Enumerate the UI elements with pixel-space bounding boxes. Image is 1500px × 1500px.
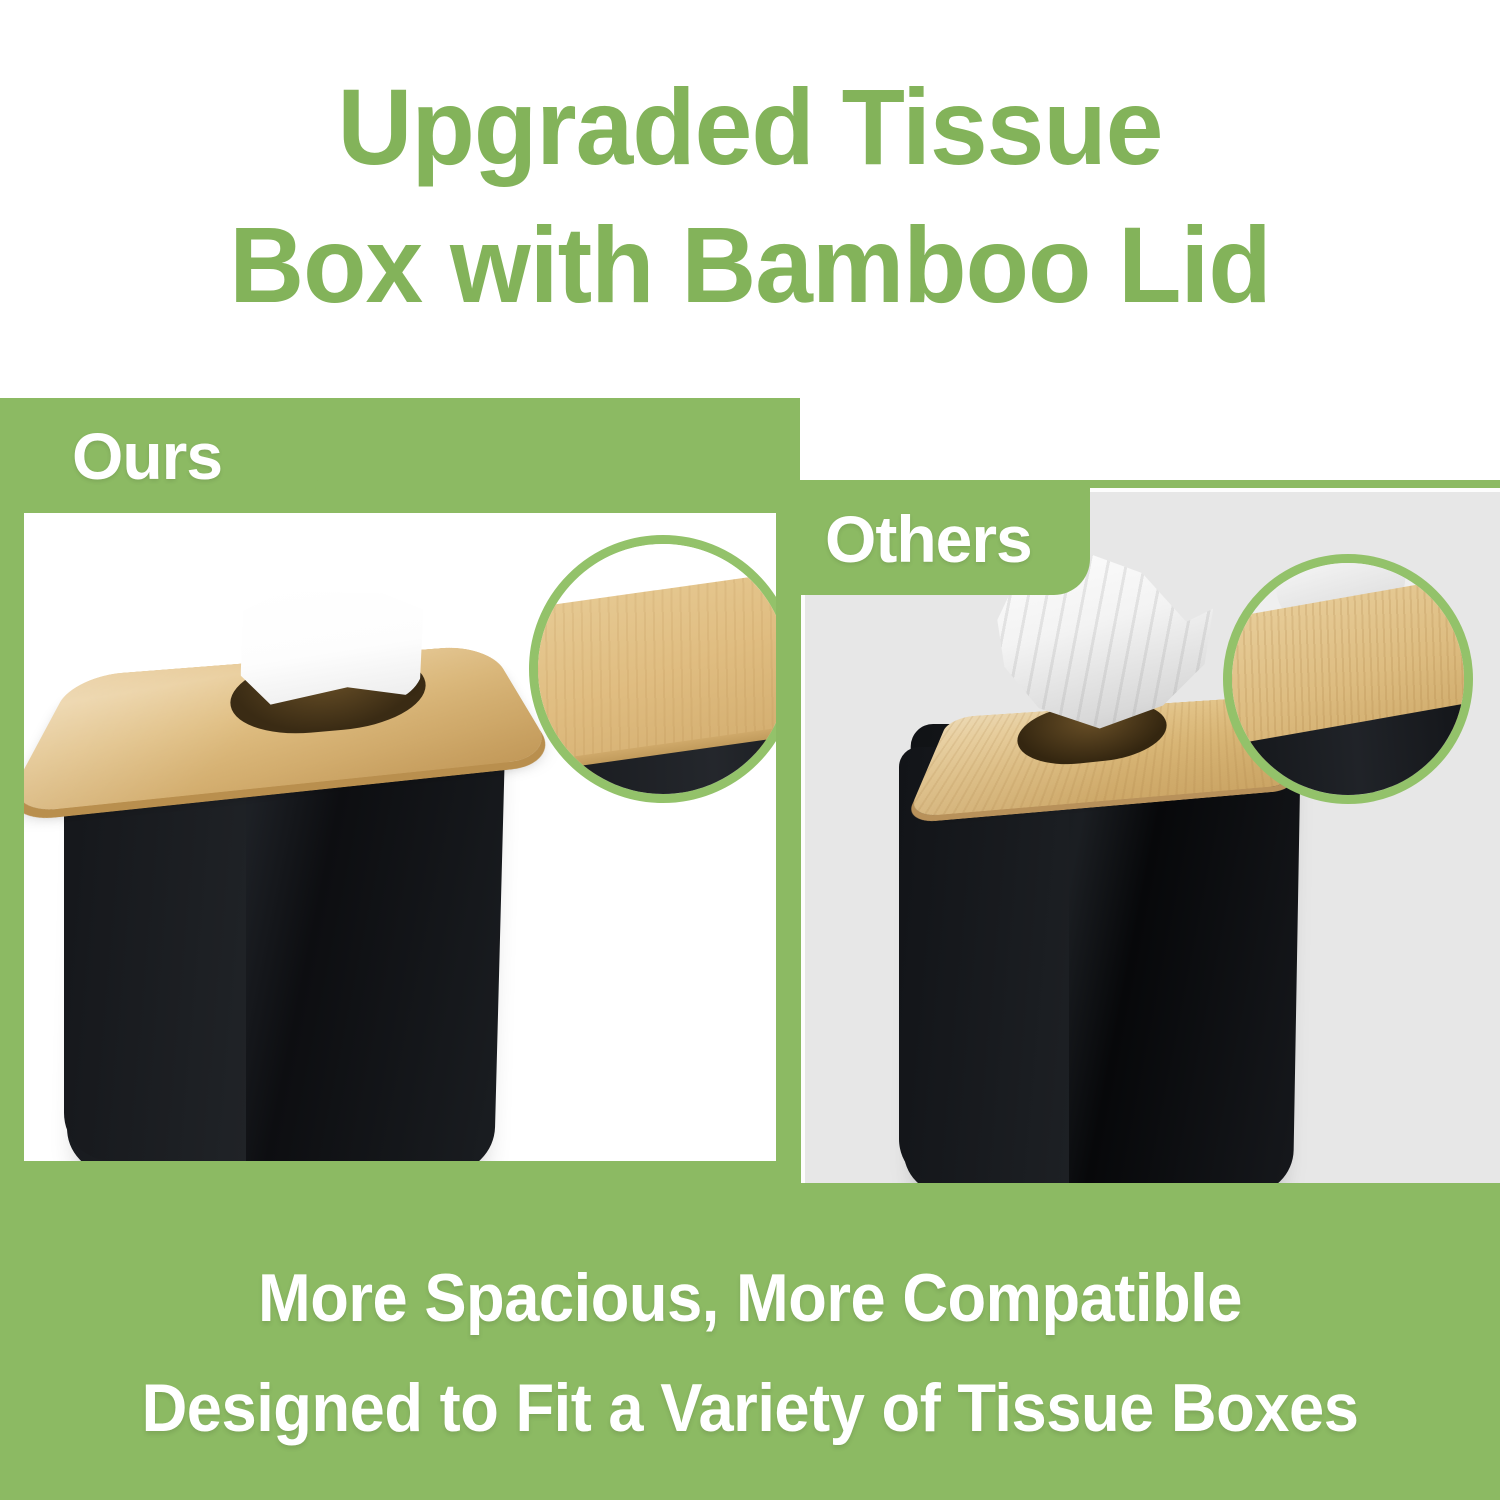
page-title-line-2: Box with Bamboo Lid bbox=[30, 196, 1470, 334]
badge-ours-label: Ours bbox=[72, 418, 222, 494]
feature-banner-line-2: Designed to Fit a Variety of Tissue Boxe… bbox=[53, 1369, 1448, 1447]
badge-others: Others bbox=[793, 487, 1090, 595]
badge-ours: Ours bbox=[0, 398, 318, 513]
others-detail-magnifier bbox=[1223, 554, 1473, 804]
page-title: Upgraded Tissue Box with Bamboo Lid bbox=[30, 58, 1470, 334]
ours-tissue-box-illustration bbox=[34, 553, 554, 1161]
feature-banner: More Spacious, More Compatible Designed … bbox=[0, 1183, 1500, 1500]
ours-product-image bbox=[24, 513, 776, 1161]
ours-stage bbox=[24, 513, 776, 1161]
badge-others-label: Others bbox=[825, 501, 1032, 577]
page-title-line-1: Upgraded Tissue bbox=[338, 66, 1163, 187]
comparison-panel-ours bbox=[0, 398, 800, 1183]
others-stage bbox=[805, 492, 1500, 1183]
ours-detail-magnifier bbox=[529, 535, 776, 803]
feature-banner-line-1: More Spacious, More Compatible bbox=[53, 1259, 1448, 1337]
